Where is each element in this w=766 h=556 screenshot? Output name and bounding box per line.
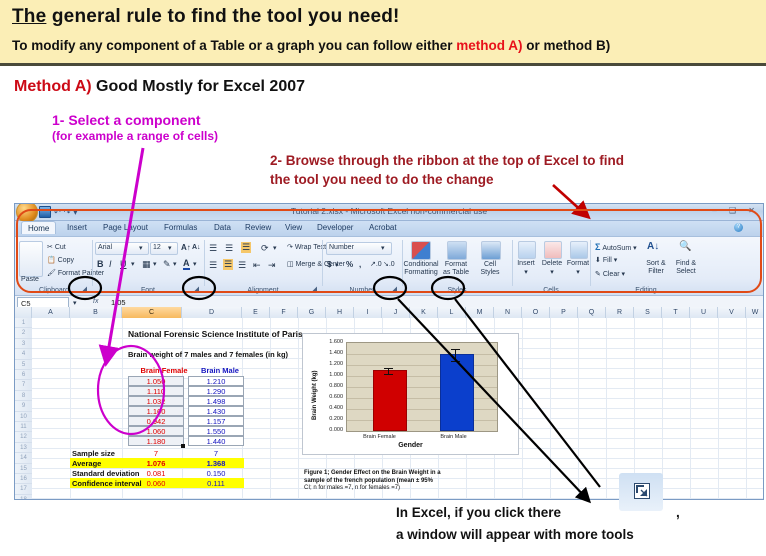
table-cell-male-1[interactable]: 1.210: [188, 376, 244, 386]
chart-ytick-1400: 1.400: [329, 350, 343, 356]
embedded-chart[interactable]: Brain Weight (kg) 1.600 1.400 1.200 1.00…: [302, 333, 519, 455]
sort-filter-icon[interactable]: A↓: [647, 241, 659, 252]
table-cell-male-6[interactable]: 1.550: [188, 426, 244, 436]
table-cell-male-4[interactable]: 1.430: [188, 406, 244, 416]
table-header-male: Brain Male: [192, 366, 248, 375]
group-label-font: Font: [93, 287, 203, 294]
excel-title-bar: ↶ ↷ ▾ Tutorial 2.xlsx - Microsoft Excel …: [15, 204, 763, 221]
table-cell-female-7[interactable]: 1.180: [128, 436, 184, 446]
column-header-K[interactable]: K: [410, 307, 438, 318]
wrap-text-button[interactable]: ↷ Wrap Text: [287, 243, 326, 251]
chart-ytick-0000: 0.000: [329, 427, 343, 433]
borders-icon[interactable]: ▦: [142, 259, 151, 270]
dialog-launcher-icon[interactable]: [634, 483, 650, 499]
group-label-cells: Cells: [513, 287, 589, 294]
banner-subtitle: To modify any component of a Table or a …: [12, 38, 610, 53]
row-header-5[interactable]: 5: [15, 360, 32, 370]
row-header-17[interactable]: 17: [15, 484, 32, 494]
stat-female-average: 1.076: [128, 459, 184, 468]
tab-acrobat[interactable]: Acrobat: [363, 222, 403, 233]
row-header-9[interactable]: 9: [15, 401, 32, 411]
tab-formulas[interactable]: Formulas: [158, 222, 203, 233]
table-cell-female-2[interactable]: 1.110: [128, 386, 184, 396]
table-cell-female-3[interactable]: 1.032: [128, 396, 184, 406]
currency-format-icon[interactable]: $: [327, 260, 331, 269]
figure-caption-line2: sample of the french population (mean ± …: [304, 478, 514, 486]
ribbon-group-number: Number ▾ $ ▾ % , ↗.0 ↘.0 Number ◢: [323, 238, 401, 294]
column-header-U[interactable]: U: [690, 307, 718, 318]
column-header-F[interactable]: F: [270, 307, 298, 318]
format-cells-icon[interactable]: [570, 241, 588, 259]
column-header-Q[interactable]: Q: [578, 307, 606, 318]
delete-label: Delete: [539, 260, 565, 267]
orientation-chevron-down-icon[interactable]: ▾: [273, 244, 277, 252]
cell-styles-label-2: Styles: [475, 269, 505, 276]
worksheet-grid[interactable]: A B C D E F G H I J K L M N O P Q R S T …: [15, 307, 764, 500]
chart-ytick-1600: 1.600: [329, 339, 343, 345]
stat-label-sample-size: Sample size: [72, 449, 115, 458]
tab-page-layout[interactable]: Page Layout: [97, 222, 154, 233]
method-a-rest: Good Mostly for Excel 2007: [92, 78, 305, 95]
group-label-styles: Styles: [403, 287, 511, 294]
error-bar-male-cap-top: [451, 349, 460, 350]
conditional-formatting-label-2: Formatting: [403, 269, 439, 276]
row-header-16[interactable]: 16: [15, 474, 32, 484]
stat-male-sample-size: 7: [188, 449, 244, 458]
method-a-label: Method A): [14, 78, 92, 95]
chart-bar-male[interactable]: [440, 354, 474, 431]
delete-cells-icon[interactable]: [544, 241, 562, 259]
excel-window: ↶ ↷ ▾ Tutorial 2.xlsx - Microsoft Excel …: [14, 203, 764, 500]
cell-styles-label-1: Cell: [475, 261, 505, 268]
tab-insert[interactable]: Insert: [61, 222, 93, 233]
bottom-text-comma: ,: [676, 505, 680, 520]
find-select-icon[interactable]: 🔍: [679, 241, 691, 252]
tab-data[interactable]: Data: [208, 222, 237, 233]
row-header-2[interactable]: 2: [15, 328, 32, 338]
find-select-label-2: Select: [671, 268, 701, 275]
step-1-line1: 1- Select a component: [52, 112, 218, 129]
chart-plot-area: [346, 342, 498, 432]
sort-filter-label-1: Sort &: [641, 260, 671, 267]
bottom-text-line1: In Excel, if you click there: [396, 505, 561, 520]
column-header-C[interactable]: C: [122, 307, 182, 318]
font-family-chevron-down-icon[interactable]: ▾: [139, 244, 143, 252]
chart-ytick-0800: 0.800: [329, 383, 343, 389]
ribbon-group-font: Arial ▾ 12 ▾ A↑ A↓ B I U ▾ ▦ ▾ ✎ ▾ A ▾ F…: [93, 238, 203, 294]
clear-button[interactable]: ✎ Clear ▾: [595, 270, 625, 278]
page-title: The general rule to find the tool you ne…: [12, 6, 400, 28]
row-header-1[interactable]: 1: [15, 318, 32, 328]
fill-chevron-down-icon[interactable]: ▾: [173, 260, 177, 268]
table-cell-female-4[interactable]: 1.160: [128, 406, 184, 416]
stat-male-ci: 0.111: [188, 479, 244, 488]
error-bar-male-cap-bottom: [451, 361, 460, 362]
table-cell-female-1[interactable]: 1.050: [128, 376, 184, 386]
chart-bar-female[interactable]: [373, 370, 407, 431]
column-header-G[interactable]: G: [298, 307, 326, 318]
ribbon-group-editing: Σ AutoSum ▾ ⬇ Fill ▾ ✎ Clear ▾ A↓ Sort &…: [591, 238, 701, 294]
dialog-launcher-glyph: [635, 484, 649, 498]
page-title-rest: general rule to find the tool you need!: [46, 6, 399, 27]
align-middle-icon[interactable]: ☰: [225, 243, 233, 254]
format-label: Format: [565, 260, 591, 267]
underline-chevron-down-icon[interactable]: ▾: [131, 260, 135, 268]
step-2-line2: the tool you need to do the change: [270, 170, 624, 189]
step-1-line2: (for example a range of cells): [52, 129, 218, 144]
row-header-3[interactable]: 3: [15, 339, 32, 349]
column-header-L[interactable]: L: [438, 307, 466, 318]
ribbon-group-clipboard: Paste ✂ Cut 📋 Copy 🖌 Format Painter Clip…: [17, 238, 91, 294]
number-dialog-launcher-icon[interactable]: ◢: [392, 285, 397, 293]
column-header-P[interactable]: P: [550, 307, 578, 318]
bold-button[interactable]: B: [97, 259, 104, 269]
sheet-subtitle: Brain weight of 7 males and 7 females (i…: [128, 350, 288, 359]
chart-ytick-1000: 1.000: [329, 372, 343, 378]
cell-styles-icon[interactable]: [481, 241, 501, 260]
number-format-value: Number: [329, 244, 354, 251]
fx-icon[interactable]: fx: [93, 298, 98, 305]
format-as-table-label-1: Format: [440, 261, 472, 268]
table-header-female: Brain Female: [136, 366, 192, 375]
cut-button[interactable]: ✂ Cut: [47, 243, 66, 251]
format-as-table-label-2: as Table: [440, 269, 472, 276]
sheet-title: National Forensic Science Institute of P…: [128, 329, 303, 339]
method-a-heading: Method A) Good Mostly for Excel 2007: [14, 78, 305, 96]
fill-color-icon[interactable]: ✎: [163, 259, 171, 270]
group-label-alignment: Alignment: [205, 287, 321, 294]
column-header-J[interactable]: J: [382, 307, 410, 318]
orientation-icon[interactable]: ⟳: [261, 243, 269, 254]
align-top-icon[interactable]: ☰: [209, 243, 217, 254]
select-all-corner[interactable]: [15, 307, 32, 318]
stat-male-std-dev: 0.150: [188, 469, 244, 478]
insert-chevron-down-icon[interactable]: ▾: [513, 268, 539, 276]
copy-button[interactable]: 📋 Copy: [47, 256, 74, 264]
chart-xtick-male: Brain Male: [421, 434, 486, 440]
paste-label: Paste: [19, 276, 41, 283]
ribbon-group-styles: Conditional Formatting Format as Table C…: [403, 238, 511, 294]
row-header-15[interactable]: 15: [15, 464, 32, 474]
fill-handle[interactable]: [181, 444, 185, 448]
tab-view[interactable]: View: [279, 222, 308, 233]
tab-developer[interactable]: Developer: [311, 222, 359, 233]
font-family-value: Arial: [98, 244, 112, 251]
banner-subtitle-before: To modify any component of a Table or a …: [12, 38, 456, 53]
row-header-12[interactable]: 12: [15, 432, 32, 442]
chart-ytick-0200: 0.200: [329, 416, 343, 422]
ribbon-tab-bar[interactable]: Home Insert Page Layout Formulas Data Re…: [15, 221, 763, 237]
window-controls[interactable]: – ❑ ✕: [712, 206, 760, 215]
table-cell-female-6[interactable]: 1.060: [128, 426, 184, 436]
banner-subtitle-after: or method B): [523, 38, 611, 53]
increase-indent-icon[interactable]: ⇥: [268, 260, 276, 271]
error-bar-female-cap-top: [384, 368, 393, 369]
align-bottom-icon[interactable]: ☰: [241, 242, 251, 253]
figure-caption-line1: Figure 1; Gender Effect on the Brain Wei…: [304, 470, 514, 478]
inc-decimal-icon[interactable]: ↗.0: [370, 260, 382, 268]
paste-button[interactable]: [19, 241, 43, 277]
row-header-18[interactable]: 18: [15, 495, 32, 500]
font-color-icon[interactable]: A: [183, 258, 190, 270]
group-label-number: Number: [323, 287, 401, 294]
column-header-T[interactable]: T: [662, 307, 690, 318]
step-2-annotation: 2- Browse through the ribbon at the top …: [270, 151, 624, 189]
stat-female-sample-size: 7: [128, 449, 184, 458]
fill-button[interactable]: ⬇ Fill ▾: [595, 256, 617, 264]
align-right-icon[interactable]: ☰: [238, 260, 246, 271]
font-color-chevron-down-icon[interactable]: ▾: [193, 260, 197, 268]
column-header-D[interactable]: D: [182, 307, 242, 318]
delete-chevron-down-icon[interactable]: ▾: [539, 268, 565, 276]
group-label-clipboard: Clipboard: [17, 287, 91, 294]
group-label-editing: Editing: [591, 287, 701, 294]
figure-caption-line3: CI; n for males =7, n for females =7): [304, 485, 514, 493]
row-header-7[interactable]: 7: [15, 380, 32, 390]
align-left-icon[interactable]: ☰: [209, 260, 217, 271]
ribbon-group-cells: Insert ▾ Delete ▾ Format ▾ Cells: [513, 238, 589, 294]
row-header-4[interactable]: 4: [15, 349, 32, 359]
row-header-6[interactable]: 6: [15, 370, 32, 380]
column-header-R[interactable]: R: [606, 307, 634, 318]
underline-button[interactable]: U: [120, 259, 127, 269]
row-header-column[interactable]: 1 2 3 4 5 6 7 8 9 10 11 12 13 14 15 16 1…: [15, 318, 33, 500]
table-cell-male-5[interactable]: 1.157: [188, 416, 244, 426]
column-header-E[interactable]: E: [242, 307, 270, 318]
conditional-formatting-icon[interactable]: [411, 241, 431, 260]
autosum-button[interactable]: Σ AutoSum ▾: [595, 242, 637, 252]
alignment-dialog-launcher-icon[interactable]: ◢: [312, 285, 317, 293]
stat-female-ci: 0.060: [128, 479, 184, 488]
header-banner: The general rule to find the tool you ne…: [0, 0, 766, 66]
font-dialog-launcher-icon[interactable]: ◢: [194, 285, 199, 293]
stat-female-std-dev: 0.081: [128, 469, 184, 478]
table-cell-male-7[interactable]: 1.440: [188, 436, 244, 446]
page-title-underlined: The: [12, 6, 46, 27]
column-header-H[interactable]: H: [326, 307, 354, 318]
font-size-chevron-down-icon[interactable]: ▾: [168, 244, 172, 252]
column-header-S[interactable]: S: [634, 307, 662, 318]
ribbon-group-alignment: ☰ ☰ ☰ ⟳ ▾ ↷ Wrap Text ☰ ☰ ☰ ⇤ ⇥ ◫ Merge …: [205, 238, 321, 294]
insert-cells-icon[interactable]: [518, 241, 536, 259]
chart-ytick-1200: 1.200: [329, 361, 343, 367]
chart-ytick-0600: 0.600: [329, 394, 343, 400]
column-header-I[interactable]: I: [354, 307, 382, 318]
column-header-V[interactable]: V: [718, 307, 746, 318]
banner-subtitle-highlight: method A): [456, 38, 522, 53]
column-header-W[interactable]: W: [746, 307, 764, 318]
error-bar-female-cap-bottom: [384, 374, 393, 375]
name-box-chevron-down-icon[interactable]: ▾: [73, 299, 77, 307]
column-header-B[interactable]: B: [70, 307, 122, 318]
sort-filter-label-2: Filter: [641, 268, 671, 275]
chart-x-axis-label: Gender: [303, 442, 518, 449]
chart-y-axis-label: Brain Weight (kg): [312, 370, 318, 420]
format-chevron-down-icon[interactable]: ▾: [565, 268, 591, 276]
bottom-text-line2: a window will appear with more tools: [396, 527, 634, 542]
row-header-8[interactable]: 8: [15, 391, 32, 401]
insert-label: Insert: [513, 260, 539, 267]
stat-label-average: Average: [72, 459, 101, 468]
tab-review[interactable]: Review: [239, 222, 277, 233]
step-1-annotation: 1- Select a component (for example a ran…: [52, 112, 218, 144]
stat-male-average: 1.368: [188, 459, 244, 468]
format-as-table-icon[interactable]: [447, 241, 467, 260]
font-size-value: 12: [153, 244, 161, 251]
tab-home[interactable]: Home: [21, 221, 56, 234]
clipboard-dialog-launcher-icon[interactable]: ◢: [82, 285, 87, 293]
borders-chevron-down-icon[interactable]: ▾: [153, 260, 157, 268]
chart-xtick-female: Brain Female: [347, 434, 412, 440]
row-header-10[interactable]: 10: [15, 412, 32, 422]
figure-caption: Figure 1; Gender Effect on the Brain Wei…: [304, 470, 514, 493]
decrease-indent-icon[interactable]: ⇤: [253, 260, 261, 271]
ribbon: Paste ✂ Cut 📋 Copy 🖌 Format Painter Clip…: [15, 237, 763, 296]
table-cell-female-5[interactable]: 0.942: [128, 416, 184, 426]
column-header-A[interactable]: A: [32, 307, 70, 318]
dec-decimal-icon[interactable]: ↘.0: [383, 260, 395, 268]
shrink-font-icon[interactable]: A↓: [192, 244, 201, 251]
conditional-formatting-label-1: Conditional: [403, 261, 439, 268]
chart-ytick-0400: 0.400: [329, 405, 343, 411]
percent-format-icon[interactable]: %: [346, 260, 353, 269]
window-title: Tutorial 2.xlsx - Microsoft Excel non-co…: [15, 206, 763, 216]
comma-format-icon[interactable]: ,: [359, 260, 361, 269]
column-header-M[interactable]: M: [466, 307, 494, 318]
row-header-13[interactable]: 13: [15, 443, 32, 453]
number-format-chevron-down-icon[interactable]: ▾: [381, 244, 385, 252]
column-header-N[interactable]: N: [494, 307, 522, 318]
step-2-line1: 2- Browse through the ribbon at the top …: [270, 151, 624, 170]
table-cell-male-3[interactable]: 1.498: [188, 396, 244, 406]
help-icon[interactable]: ?: [734, 223, 743, 232]
grow-font-icon[interactable]: A↑: [181, 243, 191, 252]
row-header-14[interactable]: 14: [15, 453, 32, 463]
row-header-11[interactable]: 11: [15, 422, 32, 432]
italic-button[interactable]: I: [109, 259, 112, 269]
column-header-O[interactable]: O: [522, 307, 550, 318]
table-cell-male-2[interactable]: 1.290: [188, 386, 244, 396]
align-center-icon[interactable]: ☰: [223, 259, 233, 270]
currency-chevron-down-icon[interactable]: ▾: [335, 261, 339, 269]
find-select-label-1: Find &: [671, 260, 701, 267]
